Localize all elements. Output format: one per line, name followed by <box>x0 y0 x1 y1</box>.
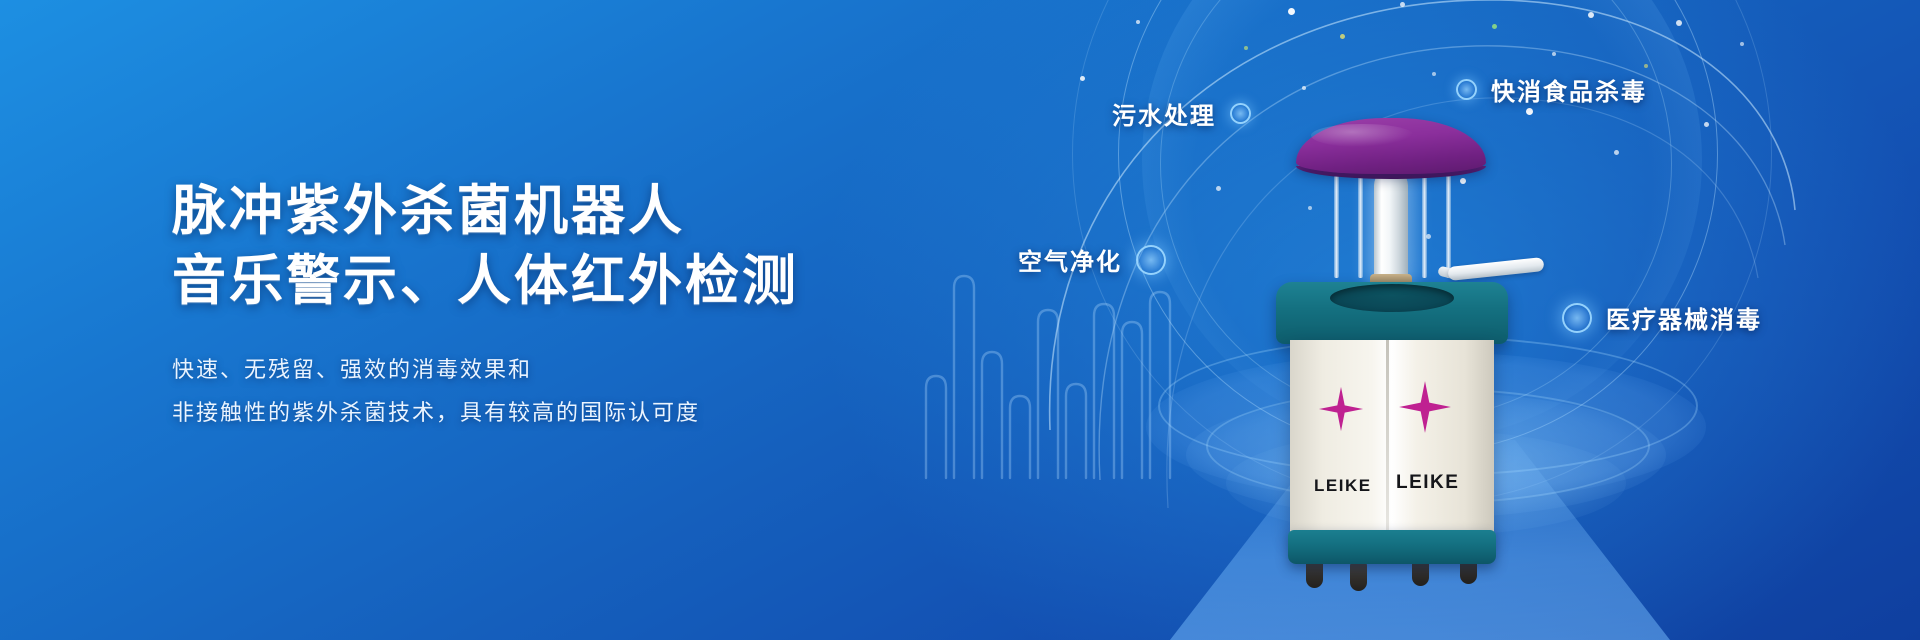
brand-logo-left: LEIKE <box>1314 476 1372 496</box>
device-body-edge <box>1386 340 1389 536</box>
callout-marker-icon <box>1230 103 1251 124</box>
lamp-support-rod <box>1334 174 1339 278</box>
callout-label: 污水处理 <box>1112 96 1216 131</box>
device-body-panel <box>1290 340 1494 536</box>
callout-label: 医疗器械消毒 <box>1606 300 1762 335</box>
callout-air-purification: 空气净化 <box>1018 242 1166 277</box>
headline-line-1: 脉冲紫外杀菌机器人 <box>172 179 685 242</box>
uv-lamp-tube <box>1374 170 1408 280</box>
callout-label: 空气净化 <box>1018 242 1122 277</box>
promo-banner: 脉冲紫外杀菌机器人 音乐警示、人体红外检测 快速、无残留、强效的消毒效果和 非接… <box>0 0 1920 640</box>
callout-marker-icon <box>1456 79 1477 100</box>
lamp-support-rod <box>1446 174 1451 278</box>
purple-dome-cap <box>1296 118 1486 174</box>
subtitle-block: 快速、无残留、强效的消毒效果和 非接触性的紫外杀菌技术，具有较高的国际认可度 <box>172 350 932 436</box>
caster-wheel <box>1350 561 1367 591</box>
callout-marker-icon <box>1562 303 1592 333</box>
push-handle <box>1448 257 1545 281</box>
device-top-recess <box>1330 284 1454 312</box>
callout-medical-device-disinfection: 医疗器械消毒 <box>1562 300 1762 335</box>
brand-logo-right: LEIKE <box>1396 472 1459 494</box>
lamp-support-rod <box>1358 176 1363 278</box>
device-base <box>1288 530 1496 564</box>
subtitle-line-2: 非接触性的紫外杀菌技术，具有较高的国际认可度 <box>172 393 932 436</box>
callout-marker-icon <box>1136 245 1166 275</box>
uv-disinfection-robot-illustration: LEIKE LEIKE <box>1262 118 1522 580</box>
subtitle-line-1: 快速、无残留、强效的消毒效果和 <box>172 350 932 393</box>
callout-fmcg-food-sterilization: 快消食品杀毒 <box>1456 72 1647 107</box>
lamp-support-rod <box>1422 176 1427 278</box>
headline-block: 脉冲紫外杀菌机器人 音乐警示、人体红外检测 快速、无残留、强效的消毒效果和 非接… <box>172 176 932 436</box>
callout-wastewater-treatment: 污水处理 <box>1112 96 1251 131</box>
page-title: 脉冲紫外杀菌机器人 音乐警示、人体红外检测 <box>172 176 932 316</box>
callout-label: 快消食品杀毒 <box>1491 72 1647 107</box>
four-point-star-icon <box>1398 380 1452 434</box>
headline-line-2: 音乐警示、人体红外检测 <box>172 246 932 316</box>
sound-wave-icon <box>920 268 1180 488</box>
four-point-star-icon <box>1318 386 1364 432</box>
